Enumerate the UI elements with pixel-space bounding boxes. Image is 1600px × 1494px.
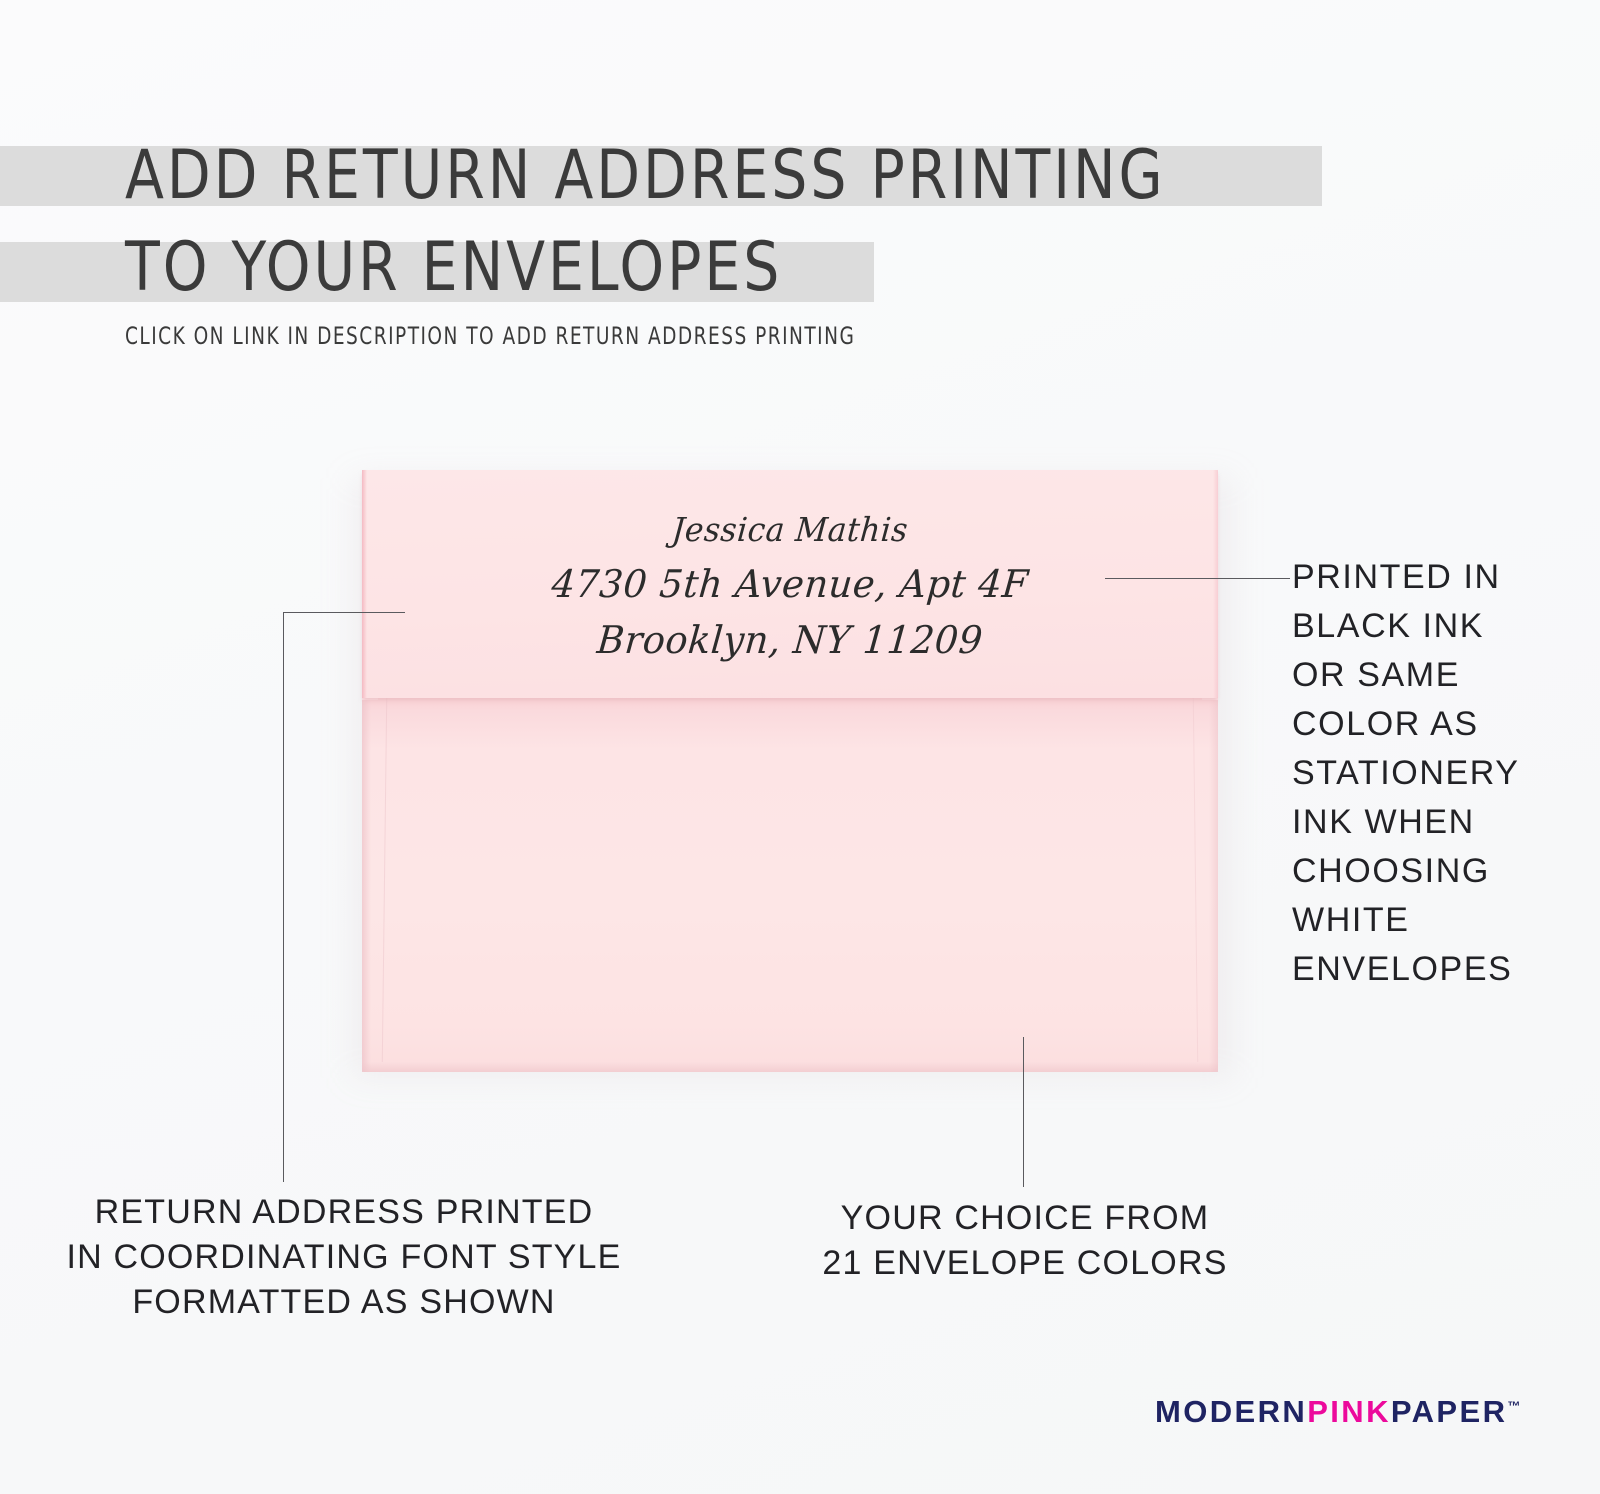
envelope-flap-right-edge	[1213, 470, 1218, 698]
subheadline: CLICK ON LINK IN DESCRIPTION TO ADD RETU…	[125, 322, 855, 350]
brand-logo[interactable]: MODERNPINKPAPER™	[1155, 1394, 1520, 1430]
infographic-canvas: ADD RETURN ADDRESS PRINTING TO YOUR ENVE…	[0, 0, 1600, 1494]
callout-center-line-1: YOUR CHOICE FROM	[800, 1196, 1250, 1241]
headline-line-2: TO YOUR ENVELOPES	[125, 226, 782, 310]
logo-segment-pink: PINK	[1307, 1394, 1391, 1429]
envelope-illustration: Jessica Mathis 4730 5th Avenue, Apt 4F B…	[362, 470, 1218, 1072]
callout-left-line-3: FORMATTED AS SHOWN	[14, 1280, 674, 1325]
callout-left-line-1: RETURN ADDRESS PRINTED	[14, 1190, 674, 1235]
envelope-flap: Jessica Mathis 4730 5th Avenue, Apt 4F B…	[362, 470, 1218, 698]
envelope-body	[362, 688, 1218, 1072]
envelope-flap-left-edge	[362, 470, 367, 698]
leader-line-left-callout-vertical	[283, 612, 284, 1182]
callout-left-line-2: IN COORDINATING FONT STYLE	[14, 1235, 674, 1280]
headline-block: ADD RETURN ADDRESS PRINTING TO YOUR ENVE…	[0, 136, 1600, 320]
return-address-block: Jessica Mathis 4730 5th Avenue, Apt 4F B…	[362, 504, 1218, 668]
headline-row-2: TO YOUR ENVELOPES	[0, 228, 1600, 320]
logo-segment-paper: PAPER	[1391, 1394, 1508, 1429]
return-address-city-state-zip: Brooklyn, NY 11209	[372, 612, 1207, 668]
return-address-street: 4730 5th Avenue, Apt 4F	[372, 556, 1207, 612]
callout-printed-ink-color: PRINTED IN BLACK INK OR SAME COLOR AS ST…	[1292, 553, 1542, 994]
logo-segment-modern: MODERN	[1155, 1394, 1307, 1429]
envelope-body-left-edge	[362, 688, 371, 1072]
leader-line-center-callout-vertical	[1023, 1037, 1024, 1187]
callout-envelope-colors: YOUR CHOICE FROM 21 ENVELOPE COLORS	[800, 1196, 1250, 1286]
callout-return-address-font: RETURN ADDRESS PRINTED IN COORDINATING F…	[14, 1190, 674, 1325]
headline-line-1: ADD RETURN ADDRESS PRINTING	[125, 134, 1166, 218]
leader-line-left-callout-horizontal	[283, 612, 405, 613]
leader-line-right-callout	[1105, 578, 1290, 579]
logo-trademark-symbol: ™	[1507, 1399, 1520, 1414]
envelope-body-right-edge	[1209, 688, 1218, 1072]
callout-center-line-2: 21 ENVELOPE COLORS	[800, 1241, 1250, 1286]
return-address-name: Jessica Mathis	[381, 504, 1199, 556]
headline-row-1: ADD RETURN ADDRESS PRINTING	[0, 136, 1600, 228]
callout-right-text: PRINTED IN BLACK INK OR SAME COLOR AS ST…	[1292, 553, 1542, 994]
